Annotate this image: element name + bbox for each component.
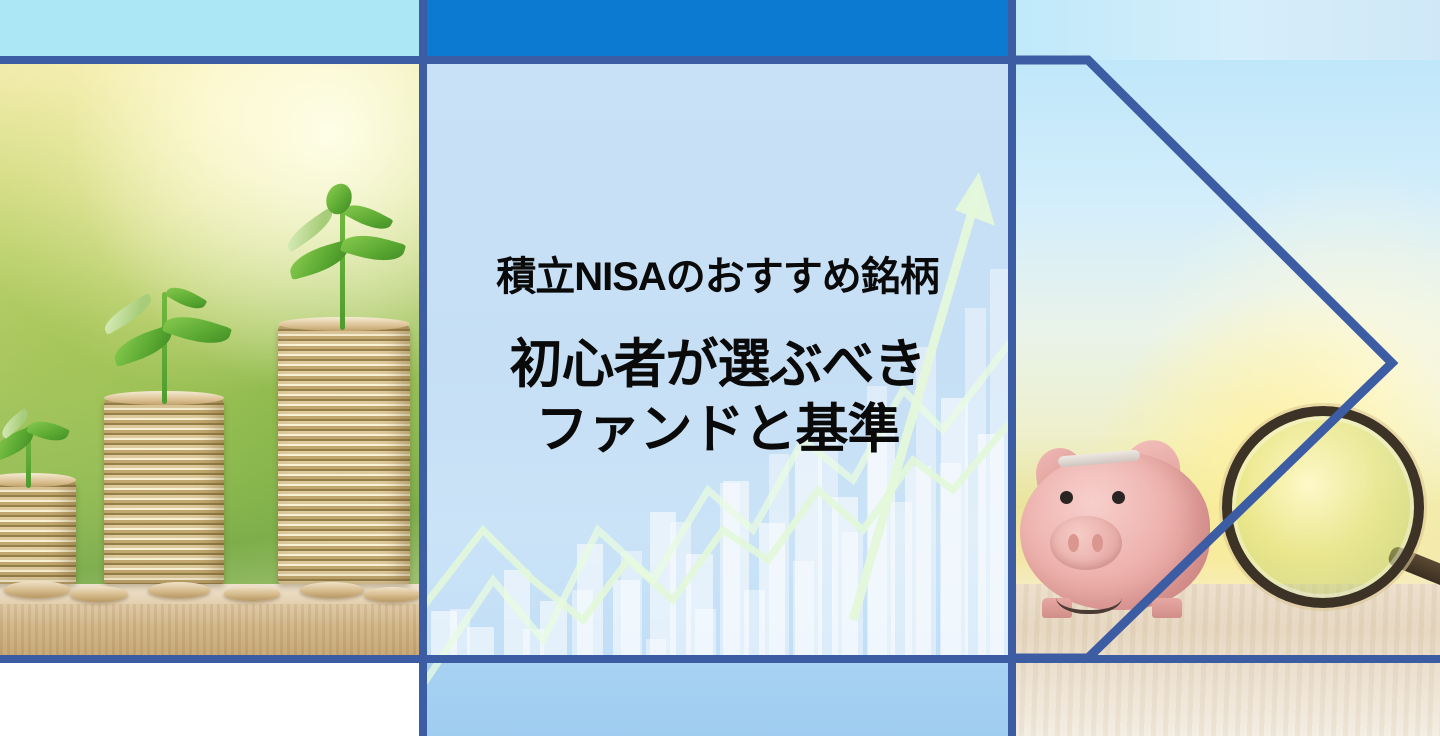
headline-main-line-1: 初心者が選ぶべき bbox=[510, 333, 926, 398]
top-left-cyan-band bbox=[0, 0, 423, 60]
seedling-stem bbox=[340, 206, 345, 330]
coin-stack-large bbox=[278, 324, 410, 584]
frame-rule-top-horizontal bbox=[0, 56, 1012, 64]
frame-rule-left-vertical bbox=[419, 0, 427, 736]
seedling-leaf bbox=[340, 228, 406, 268]
loose-coin bbox=[364, 587, 420, 602]
loose-coin bbox=[224, 586, 280, 601]
loose-coin bbox=[70, 586, 128, 602]
headline-eyebrow: 積立NISAのおすすめ銘柄 bbox=[496, 255, 939, 299]
loose-coin bbox=[148, 582, 210, 598]
loose-coin bbox=[4, 581, 70, 598]
coin-stack-medium bbox=[104, 398, 224, 584]
photo-coins-and-seedlings bbox=[0, 60, 423, 658]
seedling-leaf bbox=[165, 281, 208, 315]
headline-main: 初心者が選ぶべき ファンドと基準 bbox=[510, 333, 926, 462]
seedling-leaf bbox=[162, 308, 232, 351]
chevron-path bbox=[1008, 60, 1392, 658]
seedling-stem bbox=[162, 292, 167, 404]
right-chevron-outline bbox=[1008, 0, 1440, 736]
wooden-table bbox=[0, 584, 423, 658]
coin-stack-small bbox=[0, 480, 76, 584]
loose-coin bbox=[300, 582, 364, 598]
seedling-leaf bbox=[100, 293, 156, 335]
headline-main-line-2: ファンドと基準 bbox=[510, 398, 926, 463]
center-title-panel: 積立NISAのおすすめ銘柄 初心者が選ぶべき ファンドと基準 bbox=[423, 60, 1012, 736]
thumbnail-canvas: 積立NISAのおすすめ銘柄 初心者が選ぶべき ファンドと基準 bbox=[0, 0, 1440, 736]
seedling-leaf bbox=[26, 415, 70, 447]
headline-block: 積立NISAのおすすめ銘柄 初心者が選ぶべき ファンドと基準 bbox=[423, 60, 1012, 658]
top-center-blue-band bbox=[423, 0, 1012, 60]
